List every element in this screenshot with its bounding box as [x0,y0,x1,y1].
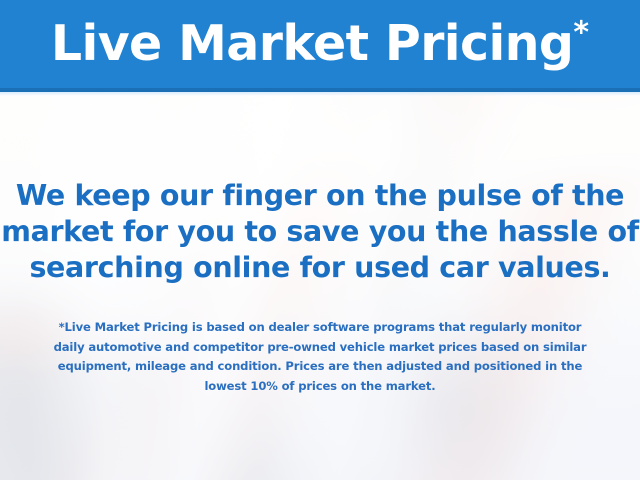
header-banner: Live Market Pricing* [0,0,640,88]
disclaimer-line-3: equipment, mileage and condition. Prices… [20,357,620,377]
disclaimer-line-2: daily automotive and competitor pre-owne… [20,338,620,358]
header-banner-sheen [0,92,640,96]
page-title-text: Live Market Pricing [51,15,574,72]
headline-line-3: searching online for used car values. [0,250,640,286]
page-title: Live Market Pricing* [51,19,589,68]
headline-line-2: market for you to save you the hassle of [0,214,640,250]
headline: We keep our finger on the pulse of the m… [0,178,640,286]
headline-line-1: We keep our finger on the pulse of the [0,178,640,214]
disclaimer-line-1: *Live Market Pricing is based on dealer … [20,318,620,338]
disclaimer: *Live Market Pricing is based on dealer … [20,318,620,396]
disclaimer-line-4: lowest 10% of prices on the market. [20,377,620,397]
page-title-asterisk: * [573,15,589,50]
live-market-pricing-slide: Live Market Pricing* We keep our finger … [0,0,640,480]
